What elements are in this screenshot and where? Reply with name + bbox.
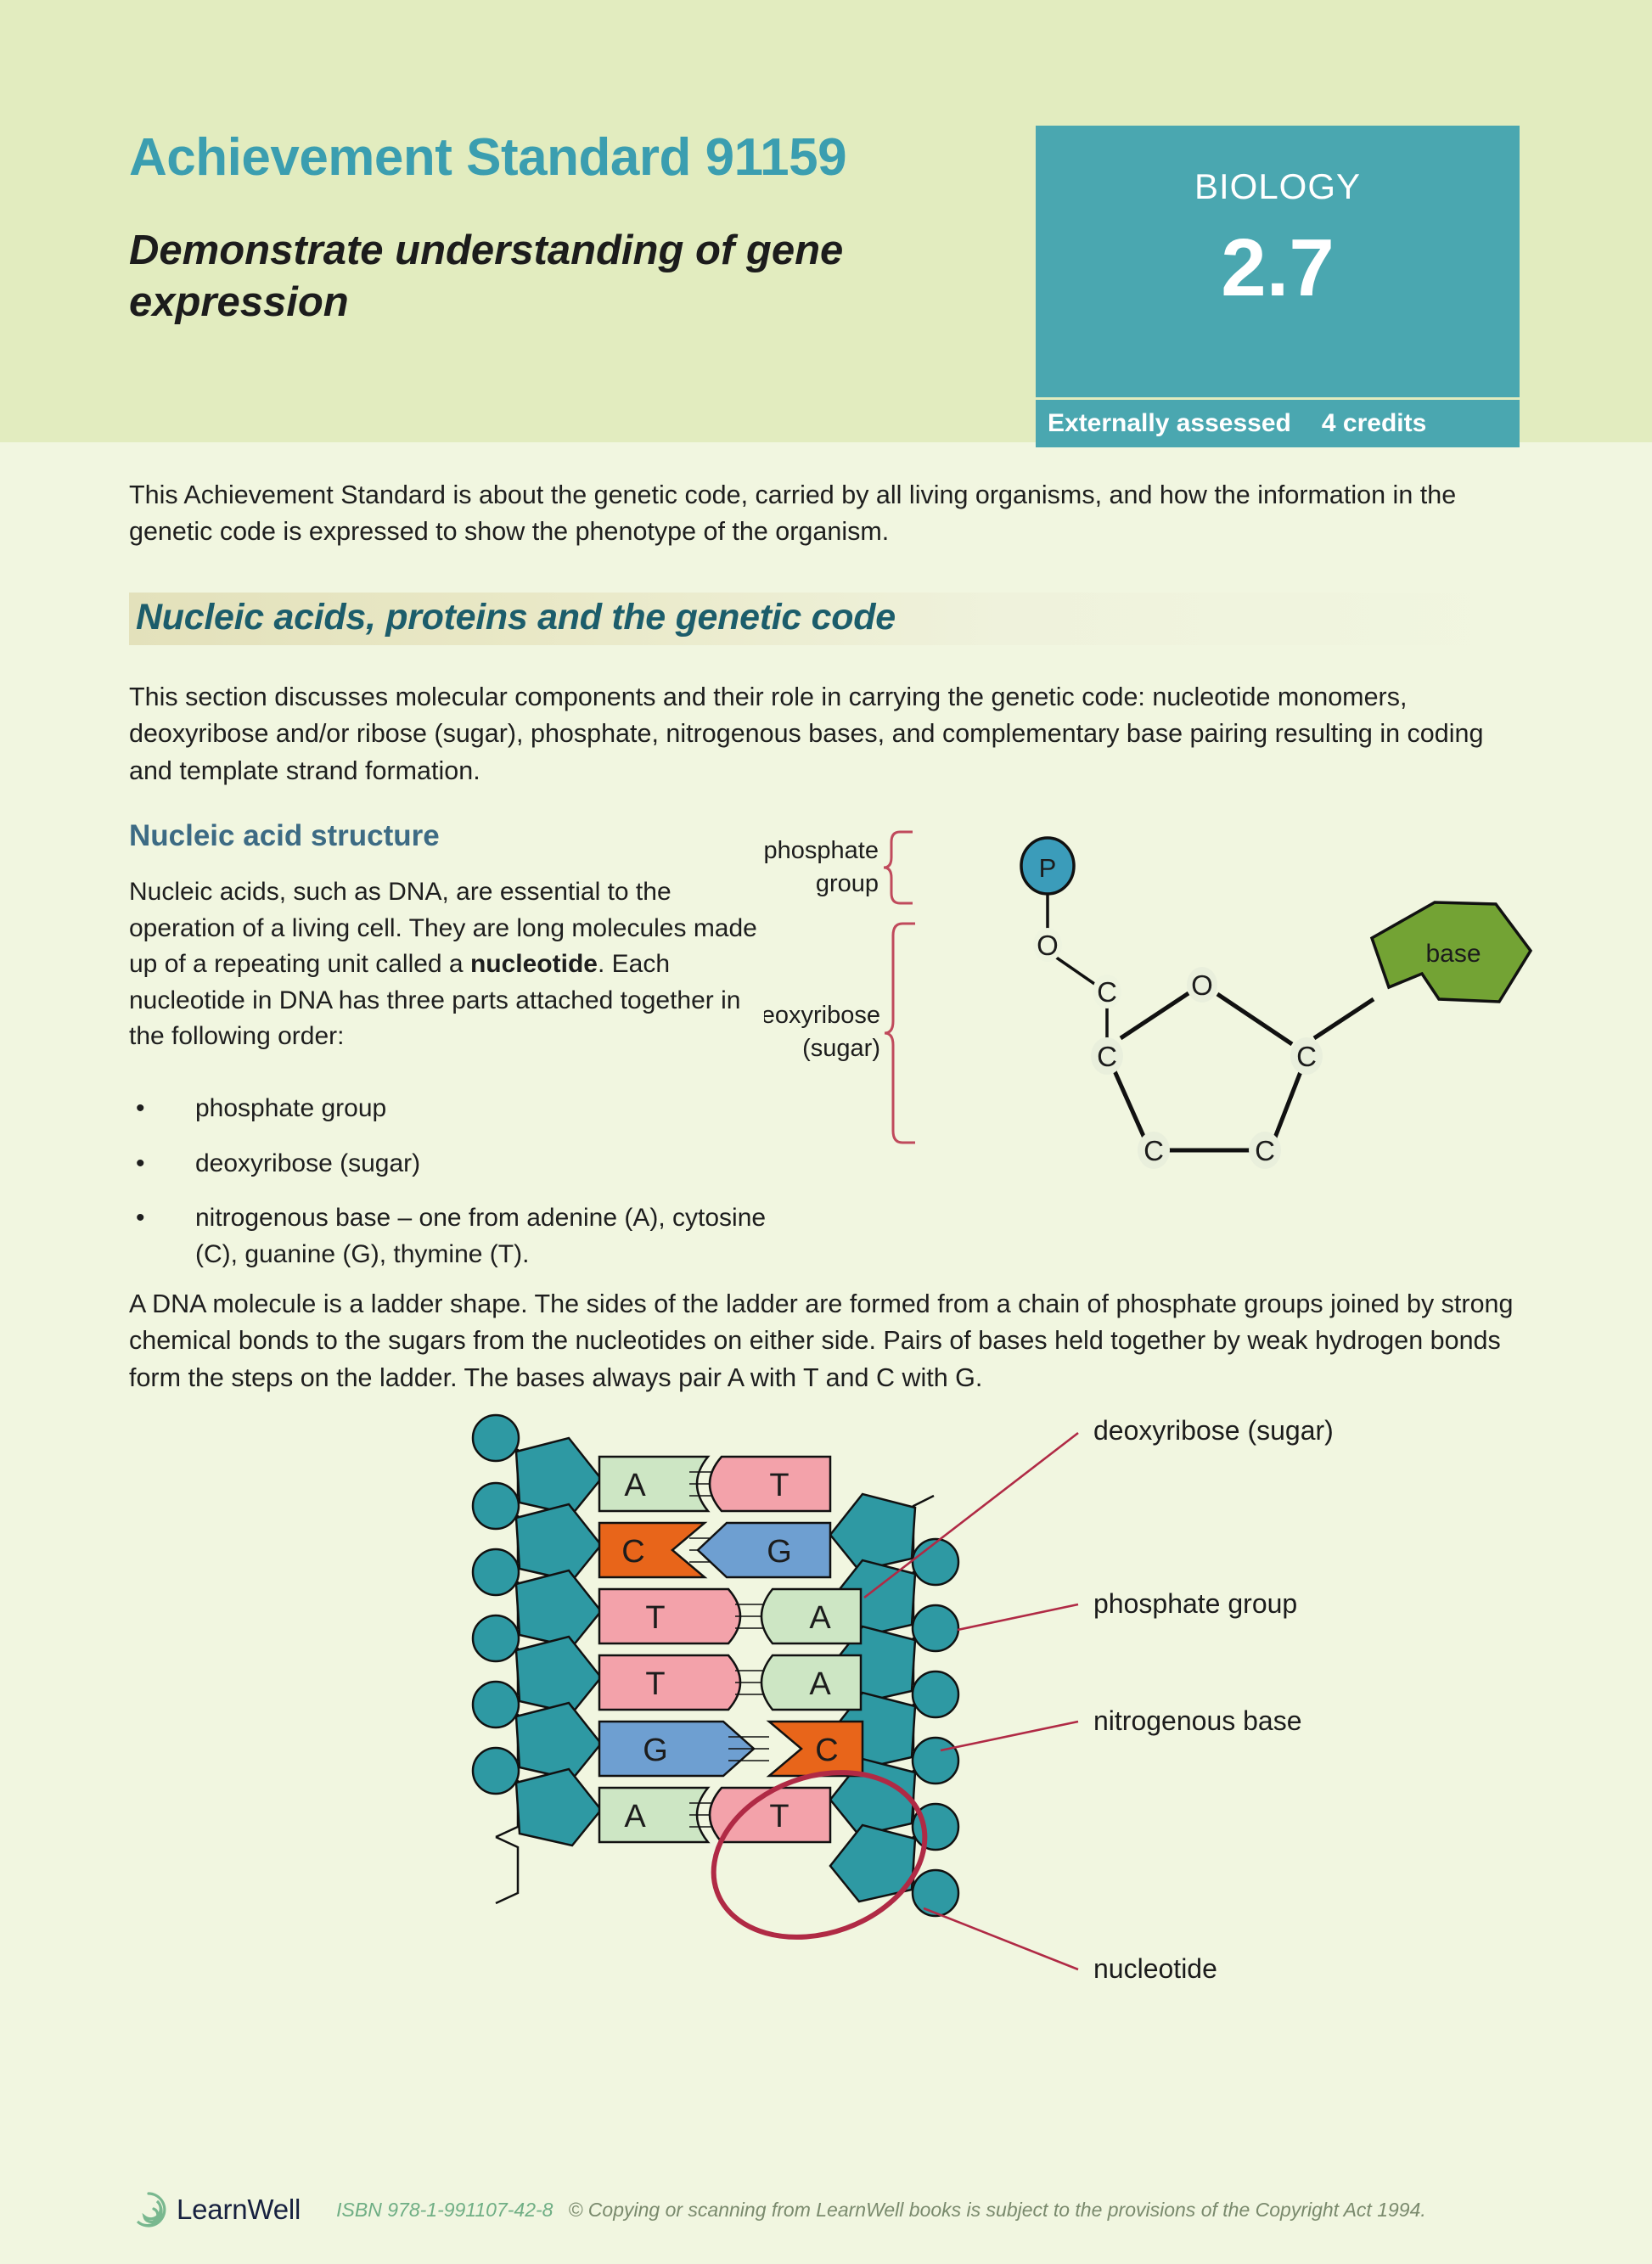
- sugar-pentagon: [516, 1703, 601, 1779]
- list-item: • deoxyribose (sugar): [129, 1146, 800, 1183]
- phosphate-circle: [473, 1748, 519, 1794]
- page-subtitle: Demonstrate understanding of gene expres…: [129, 225, 893, 329]
- sugar-pentagon: [516, 1570, 601, 1647]
- left-phosphate-circles: [473, 1415, 519, 1794]
- carbon-atom-4: C: [1097, 1041, 1117, 1072]
- list-item: • nitrogenous base – one from adenine (A…: [129, 1200, 800, 1272]
- badge-standard-number: 2.7: [1036, 228, 1520, 309]
- sugar-pentagon: [516, 1769, 601, 1845]
- section-description: This section discusses molecular compone…: [129, 679, 1487, 789]
- carbon-atom-5: C: [1097, 976, 1117, 1008]
- phosphate-circle: [473, 1415, 519, 1461]
- learnwell-logo-text: LearnWell: [177, 2194, 301, 2226]
- base-letter-G: G: [767, 1534, 792, 1570]
- base-pair-row: C: [769, 1722, 863, 1776]
- nucleotide-bold-term: nucleotide: [470, 950, 598, 978]
- bullet-marker-icon: •: [129, 1146, 195, 1183]
- phosphate-circle: [473, 1682, 519, 1727]
- callout-nucleotide: nucleotide: [1093, 1953, 1217, 1984]
- list-item-label: phosphate group: [195, 1091, 800, 1127]
- base-pair-row: T: [599, 1655, 740, 1710]
- bullet-marker-icon: •: [129, 1091, 195, 1127]
- base-pair-row: G: [698, 1523, 830, 1577]
- oxygen-atom-top: O: [1037, 930, 1059, 961]
- sugar-pentagon: [516, 1504, 601, 1581]
- base-pair-row: C: [599, 1523, 705, 1577]
- subsection-heading: Nucleic acid structure: [129, 819, 440, 853]
- learnwell-spiral-icon: [129, 2190, 168, 2229]
- carbon-atom-1: C: [1296, 1041, 1317, 1072]
- phosphate-circle: [913, 1738, 958, 1784]
- phosphate-circle: [913, 1870, 958, 1916]
- credits-label: 4 credits: [1322, 409, 1426, 438]
- bullet-marker-icon: •: [129, 1200, 195, 1272]
- list-item-label: nitrogenous base – one from adenine (A),…: [195, 1200, 800, 1272]
- carbon-atom-2: C: [1255, 1135, 1275, 1166]
- copyright-notice: © Copying or scanning from LearnWell boo…: [568, 2199, 1425, 2222]
- isbn-label: ISBN 978-1-991107-42-8: [336, 2199, 553, 2222]
- base-letter-A: A: [624, 1799, 646, 1834]
- phosphate-circle: [913, 1539, 958, 1585]
- phosphate-circle: [473, 1615, 519, 1661]
- base-letter-T: T: [769, 1799, 789, 1834]
- sugar-pentagon: [830, 1494, 915, 1570]
- phosphate-circle: [913, 1605, 958, 1651]
- callout-deoxyribose: deoxyribose (sugar): [1093, 1415, 1334, 1446]
- base-label: base: [1425, 940, 1481, 968]
- base-letter-T: T: [645, 1600, 665, 1636]
- section-heading: Nucleic acids, proteins and the genetic …: [136, 597, 896, 638]
- list-item: • phosphate group: [129, 1091, 800, 1127]
- phosphate-circle: [913, 1671, 958, 1717]
- sugar-pentagon: [516, 1438, 601, 1514]
- deoxyribose-label-2: (sugar): [802, 1035, 880, 1062]
- deoxyribose-label: deoxyribose: [764, 1002, 880, 1029]
- callout-phosphate: phosphate group: [1093, 1588, 1297, 1619]
- left-sugar-pentagons: [516, 1438, 601, 1845]
- carbon-atom-3: C: [1143, 1135, 1164, 1166]
- base-letter-T: T: [645, 1666, 665, 1702]
- nucleotide-structure-diagram: phosphate group deoxyribose (sugar) P ba…: [764, 811, 1545, 1210]
- page-title: Achievement Standard 91159: [129, 127, 846, 188]
- base-pair-row: A: [761, 1655, 861, 1710]
- base-pair-row: T: [599, 1589, 740, 1643]
- badge-subject-label: BIOLOGY: [1036, 166, 1520, 207]
- assessment-type-label: Externally assessed: [1048, 409, 1291, 438]
- phosphate-circle: [473, 1483, 519, 1529]
- dna-ladder-paragraph: A DNA molecule is a ladder shape. The si…: [129, 1286, 1538, 1396]
- subject-badge: BIOLOGY 2.7: [1036, 126, 1520, 397]
- assessment-info-bar: Externally assessed 4 credits: [1036, 400, 1520, 447]
- callout-nitrogenous-base: nitrogenous base: [1093, 1705, 1302, 1736]
- base-letter-C: C: [621, 1534, 644, 1570]
- phosphate-group-label: phosphate: [764, 837, 879, 864]
- list-item-label: deoxyribose (sugar): [195, 1146, 800, 1183]
- base-pair-row: A: [761, 1589, 861, 1643]
- svg-text:P: P: [1039, 853, 1057, 883]
- sugar-pentagon: [516, 1637, 601, 1713]
- base-letter-A: A: [809, 1600, 831, 1636]
- dna-ladder-diagram: A T C G T A T: [458, 1401, 1528, 1986]
- base-letter-A: A: [809, 1666, 831, 1702]
- footer: LearnWell ISBN 978-1-991107-42-8 © Copyi…: [129, 2180, 1572, 2239]
- oxygen-atom-ring: O: [1191, 969, 1213, 1001]
- nucleic-acid-paragraph: Nucleic acids, such as DNA, are essentia…: [129, 874, 774, 1055]
- base-pair-row: T: [710, 1457, 830, 1511]
- nucleotide-parts-list: • phosphate group • deoxyribose (sugar) …: [129, 1091, 800, 1291]
- base-letter-T: T: [769, 1468, 789, 1503]
- base-letter-A: A: [624, 1468, 646, 1503]
- phosphate-circle: [473, 1549, 519, 1595]
- intro-paragraph: This Achievement Standard is about the g…: [129, 477, 1521, 551]
- phosphate-group-label-2: group: [816, 870, 879, 897]
- base-letter-C: C: [815, 1733, 838, 1768]
- base-letter-G: G: [643, 1733, 668, 1768]
